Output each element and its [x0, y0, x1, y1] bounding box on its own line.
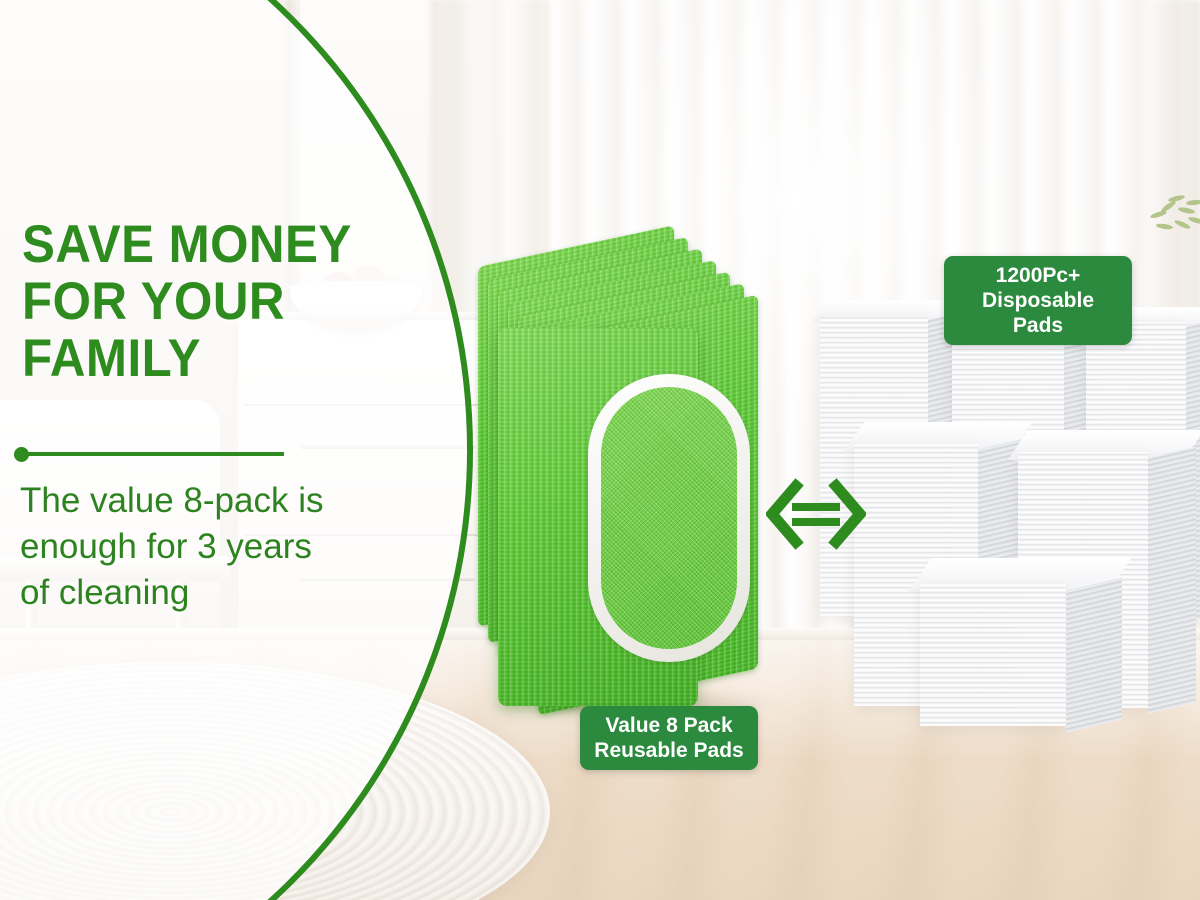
pad-oval-mesh [601, 387, 737, 649]
product-marketing-banner: SAVE MONEY FOR YOUR FAMILY The value 8-p… [0, 0, 1200, 900]
page-title: SAVE MONEY FOR YOUR FAMILY [22, 216, 394, 387]
disposable-pad-stack [920, 584, 1120, 726]
plant-icon [1148, 186, 1200, 248]
subtitle-copy: The value 8-pack is enough for 3 years o… [20, 478, 420, 616]
divider [14, 444, 284, 462]
comparison-arrow-icon [766, 478, 866, 550]
badge-reusable-pads: Value 8 Pack Reusable Pads [580, 706, 758, 770]
badge-disposable-pads: 1200Pc+ Disposable Pads [944, 256, 1132, 345]
dresser-handle [300, 444, 475, 449]
divider-bar [26, 452, 284, 456]
